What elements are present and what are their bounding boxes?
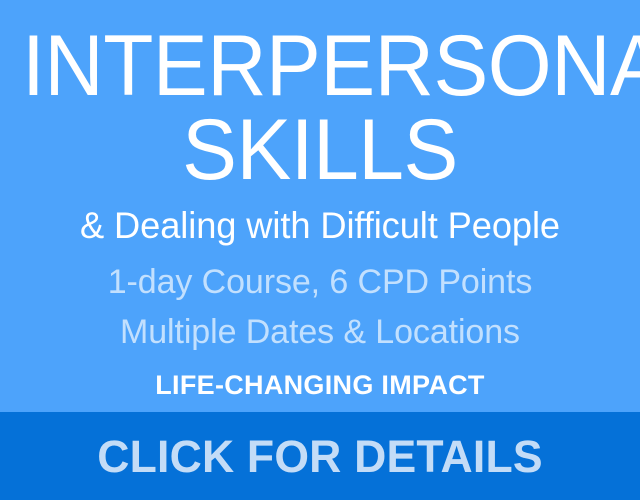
banner-headline: INTERPERSONAL SKILLS [22,0,618,191]
banner-subheadline: & Dealing with Difficult People [14,191,626,246]
course-detail-list: 1-day Course, 6 CPD Points Multiple Date… [8,246,632,350]
course-detail-dates-locations: Multiple Dates & Locations [8,301,632,350]
cta-button[interactable]: CLICK FOR DETAILS [0,412,640,500]
cta-button-label: CLICK FOR DETAILS [97,434,543,479]
banner-message-area: INTERPERSONAL SKILLS & Dealing with Diff… [0,0,640,412]
advertisement-banner[interactable]: INTERPERSONAL SKILLS & Dealing with Diff… [0,0,640,500]
headline-line-2: SKILLS [22,108,618,192]
banner-tagline: LIFE-CHANGING IMPACT [8,350,632,399]
headline-line-1: INTERPERSONAL [22,0,618,108]
course-detail-duration-cpd: 1-day Course, 6 CPD Points [8,246,632,300]
